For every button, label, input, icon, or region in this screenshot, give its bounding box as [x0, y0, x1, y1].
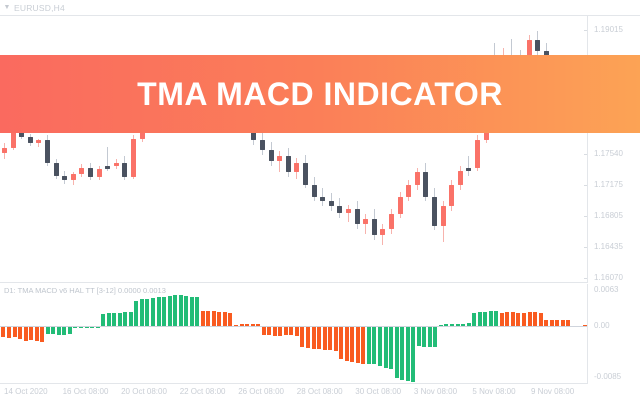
time-axis-tick: 26 Oct 08:00	[238, 387, 284, 396]
candle-body	[466, 168, 471, 171]
candle-body	[372, 219, 377, 235]
histogram-bar	[295, 326, 299, 336]
histogram-bar	[395, 326, 399, 378]
histogram-bar	[417, 326, 421, 346]
histogram-bar	[179, 295, 183, 326]
histogram-bar	[129, 312, 133, 326]
histogram-bar	[46, 326, 50, 334]
histogram-bar	[306, 326, 310, 348]
banner-title-text: TMA MACD INDICATOR	[137, 76, 503, 113]
histogram-bar	[489, 311, 493, 326]
histogram-bar	[384, 326, 388, 368]
candle-body	[11, 132, 16, 148]
time-axis: 14 Oct 202016 Oct 08:0020 Oct 08:0022 Oc…	[0, 384, 640, 400]
histogram-bar	[411, 326, 415, 382]
histogram-bar	[284, 326, 288, 335]
histogram-bar	[195, 297, 199, 326]
candle-body	[277, 156, 282, 161]
histogram-bar	[157, 297, 161, 326]
histogram-bar	[428, 326, 432, 347]
histogram-bar	[140, 299, 144, 326]
candle-body	[286, 156, 291, 172]
histogram-bar	[18, 326, 22, 339]
candle-wick	[365, 214, 366, 233]
histogram-bar	[101, 314, 105, 326]
candle-body	[432, 197, 437, 226]
histogram-bar	[201, 311, 205, 326]
histogram-bar	[40, 326, 44, 342]
time-axis-tick: 16 Oct 08:00	[63, 387, 109, 396]
histogram-bar	[328, 326, 332, 350]
candle-wick	[468, 156, 469, 175]
histogram-bar	[217, 312, 221, 326]
candle-body	[441, 206, 446, 225]
histogram-bar	[13, 326, 17, 337]
histogram-bar	[356, 326, 360, 363]
symbol-label: EURUSD,H4	[14, 3, 65, 13]
candle-body	[449, 185, 454, 206]
histogram-bar	[372, 326, 376, 364]
histogram-bar	[312, 326, 316, 349]
candle-body	[320, 197, 325, 202]
histogram-bar	[500, 313, 504, 326]
histogram-bar	[345, 326, 349, 361]
histogram-bar	[118, 313, 122, 326]
indicator-zero-line	[0, 326, 588, 327]
histogram-bar	[134, 301, 138, 326]
candle-body	[329, 201, 334, 206]
time-axis-tick: 9 Nov 08:00	[531, 387, 574, 396]
histogram-bar	[483, 312, 487, 326]
candle-body	[535, 40, 540, 51]
candle-body	[71, 174, 76, 180]
histogram-bar	[24, 326, 28, 341]
histogram-bar	[162, 297, 166, 326]
candle-body	[475, 140, 480, 167]
candle-body	[97, 169, 102, 177]
histogram-bar	[262, 326, 266, 335]
candle-body	[105, 166, 110, 169]
histogram-bar	[400, 326, 404, 380]
candle-body	[269, 150, 274, 161]
histogram-bar	[278, 326, 282, 336]
histogram-bar	[223, 312, 227, 326]
histogram-bar	[51, 326, 55, 334]
candle-body	[337, 206, 342, 212]
histogram-bar	[367, 326, 371, 364]
time-axis-tick: 22 Oct 08:00	[180, 387, 226, 396]
chevron-down-icon[interactable]: ▼	[0, 4, 14, 11]
candle-body	[389, 214, 394, 229]
candle-body	[406, 185, 411, 196]
candle-body	[131, 139, 136, 178]
histogram-bar	[350, 326, 354, 362]
candle-body	[398, 197, 403, 215]
histogram-bar	[406, 326, 410, 381]
chart-screenshot: ▼ EURUSD,H4 1.190151.186501.182801.17910…	[0, 0, 640, 400]
time-axis-tick: 3 Nov 08:00	[414, 387, 457, 396]
histogram-bar	[62, 326, 66, 335]
histogram-bar	[29, 326, 33, 340]
histogram-bar	[112, 313, 116, 326]
histogram-bar	[273, 326, 277, 336]
histogram-bar	[68, 326, 72, 334]
indicator-axis: 0.00630.00-0.0085	[588, 284, 640, 384]
histogram-bar	[389, 326, 393, 369]
histogram-bar	[206, 311, 210, 326]
candle-body	[79, 168, 84, 174]
histogram-bar	[289, 326, 293, 335]
candle-body	[415, 172, 420, 185]
histogram-bar	[168, 296, 172, 326]
histogram-bar	[173, 295, 177, 326]
candle-body	[363, 219, 368, 224]
histogram-bar	[522, 313, 526, 326]
histogram-bar	[184, 296, 188, 326]
histogram-bar	[516, 313, 520, 326]
candle-body	[294, 163, 299, 173]
histogram-bar	[422, 326, 426, 347]
time-axis-tick: 30 Oct 08:00	[355, 387, 401, 396]
candle-body	[312, 185, 317, 196]
candle-body	[346, 209, 351, 212]
histogram-bar	[123, 312, 127, 326]
candle-body	[2, 148, 7, 153]
title-banner: TMA MACD INDICATOR	[0, 55, 640, 133]
histogram-bar	[533, 312, 537, 326]
candle-body	[122, 163, 127, 178]
histogram-bar	[478, 312, 482, 326]
histogram-bar	[267, 326, 271, 335]
candle-body	[458, 171, 463, 186]
time-axis-tick: 14 Oct 2020	[4, 387, 48, 396]
candle-body	[88, 168, 93, 178]
candle-wick	[279, 151, 280, 172]
histogram-bar	[190, 297, 194, 326]
histogram-bar	[151, 298, 155, 326]
histogram-bar	[511, 312, 515, 326]
indicator-label: D1: TMA MACD v6 HAL TT [3-12] 0.0000 0.0…	[4, 286, 166, 295]
histogram-bar	[212, 311, 216, 326]
candle-body	[62, 176, 67, 181]
histogram-bar	[107, 313, 111, 326]
histogram-bar	[339, 326, 343, 359]
candle-wick	[348, 205, 349, 223]
candle-body	[303, 163, 308, 186]
histogram-bar	[300, 326, 304, 347]
histogram-bar	[528, 312, 532, 326]
time-axis-tick: 20 Oct 08:00	[121, 387, 167, 396]
candle-body	[260, 140, 265, 150]
histogram-bar	[1, 326, 5, 337]
histogram-bar	[317, 326, 321, 349]
candle-body	[423, 172, 428, 196]
histogram-bar	[145, 299, 149, 326]
candle-body	[45, 140, 50, 163]
histogram-bar	[494, 311, 498, 326]
histogram-bar	[57, 326, 61, 335]
histogram-bar	[378, 326, 382, 366]
candle-body	[28, 137, 33, 143]
histogram-bar	[228, 313, 232, 326]
candle-body	[355, 209, 360, 224]
candle-body	[54, 163, 59, 176]
symbol-header-bar[interactable]: ▼ EURUSD,H4	[0, 0, 640, 16]
histogram-bar	[361, 326, 365, 364]
histogram-bar	[35, 326, 39, 341]
histogram-bar	[323, 326, 327, 350]
histogram-bar	[539, 313, 543, 326]
candle-body	[380, 229, 385, 235]
time-axis-tick: 5 Nov 08:00	[472, 387, 515, 396]
candle-body	[114, 163, 119, 166]
candle-body	[36, 140, 41, 143]
histogram-bar	[7, 326, 11, 338]
histogram-bar	[334, 326, 338, 351]
histogram-bar	[505, 312, 509, 326]
histogram-bar	[433, 326, 437, 347]
indicator-pane[interactable]: D1: TMA MACD v6 HAL TT [3-12] 0.0000 0.0…	[0, 284, 588, 384]
time-axis-tick: 28 Oct 08:00	[297, 387, 343, 396]
histogram-bar	[472, 313, 476, 326]
